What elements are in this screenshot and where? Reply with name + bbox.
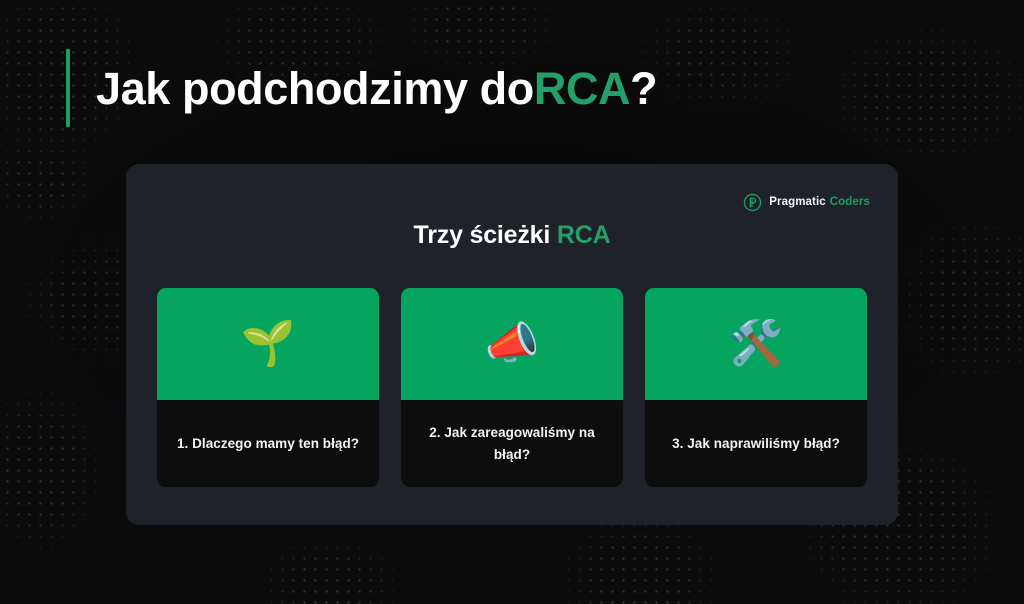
rca-card-1-body: 1. Dlaczego mamy ten błąd?: [157, 400, 379, 487]
rca-card-1-media: 🌱: [157, 288, 379, 400]
megaphone-emoji-icon: 📣: [485, 322, 540, 366]
pragmatic-coders-p-logo-icon: [743, 193, 762, 212]
page-title-accent: RCA: [534, 66, 630, 111]
brand-wordmark: PragmaticCoders: [769, 197, 870, 209]
rca-card-1-caption: 1. Dlaczego mamy ten błąd?: [177, 433, 359, 455]
brand-name-primary: Pragmatic: [769, 196, 826, 208]
seedling-emoji-icon: 🌱: [241, 322, 296, 366]
rca-path-cards: 🌱 1. Dlaczego mamy ten błąd? 📣 2. Jak za…: [157, 288, 867, 487]
rca-card-3-caption: 3. Jak naprawiliśmy błąd?: [672, 433, 840, 455]
rca-card-2-body: 2. Jak zareagowaliśmy na błąd?: [401, 400, 623, 487]
rca-card-3-media: 🛠️: [645, 288, 867, 400]
headline-accent-bar: [66, 49, 70, 127]
rca-card-3[interactable]: 🛠️ 3. Jak naprawiliśmy błąd?: [645, 288, 867, 487]
content-panel: PragmaticCoders Trzy ścieżki RCA 🌱 1. Dl…: [126, 164, 898, 525]
rca-card-2-caption: 2. Jak zareagowaliśmy na błąd?: [417, 422, 607, 466]
rca-card-2-media: 📣: [401, 288, 623, 400]
page-title: Jak podchodzimy do RCA?: [96, 49, 657, 127]
rca-card-1[interactable]: 🌱 1. Dlaczego mamy ten błąd?: [157, 288, 379, 487]
page-title-main: Jak podchodzimy do: [96, 66, 534, 111]
rca-card-3-body: 3. Jak naprawiliśmy błąd?: [645, 400, 867, 487]
panel-title-accent: RCA: [557, 221, 611, 249]
panel-title-main: Trzy ścieżki: [414, 221, 557, 249]
rca-card-2[interactable]: 📣 2. Jak zareagowaliśmy na błąd?: [401, 288, 623, 487]
hammer-and-wrench-emoji-icon: 🛠️: [729, 322, 784, 366]
headline-row: Jak podchodzimy do RCA?: [66, 49, 657, 127]
panel-title: Trzy ścieżki RCA: [126, 223, 898, 248]
brand-name-secondary: Coders: [830, 196, 870, 208]
brand-logo: PragmaticCoders: [743, 193, 870, 212]
page-title-tail: ?: [630, 66, 657, 111]
